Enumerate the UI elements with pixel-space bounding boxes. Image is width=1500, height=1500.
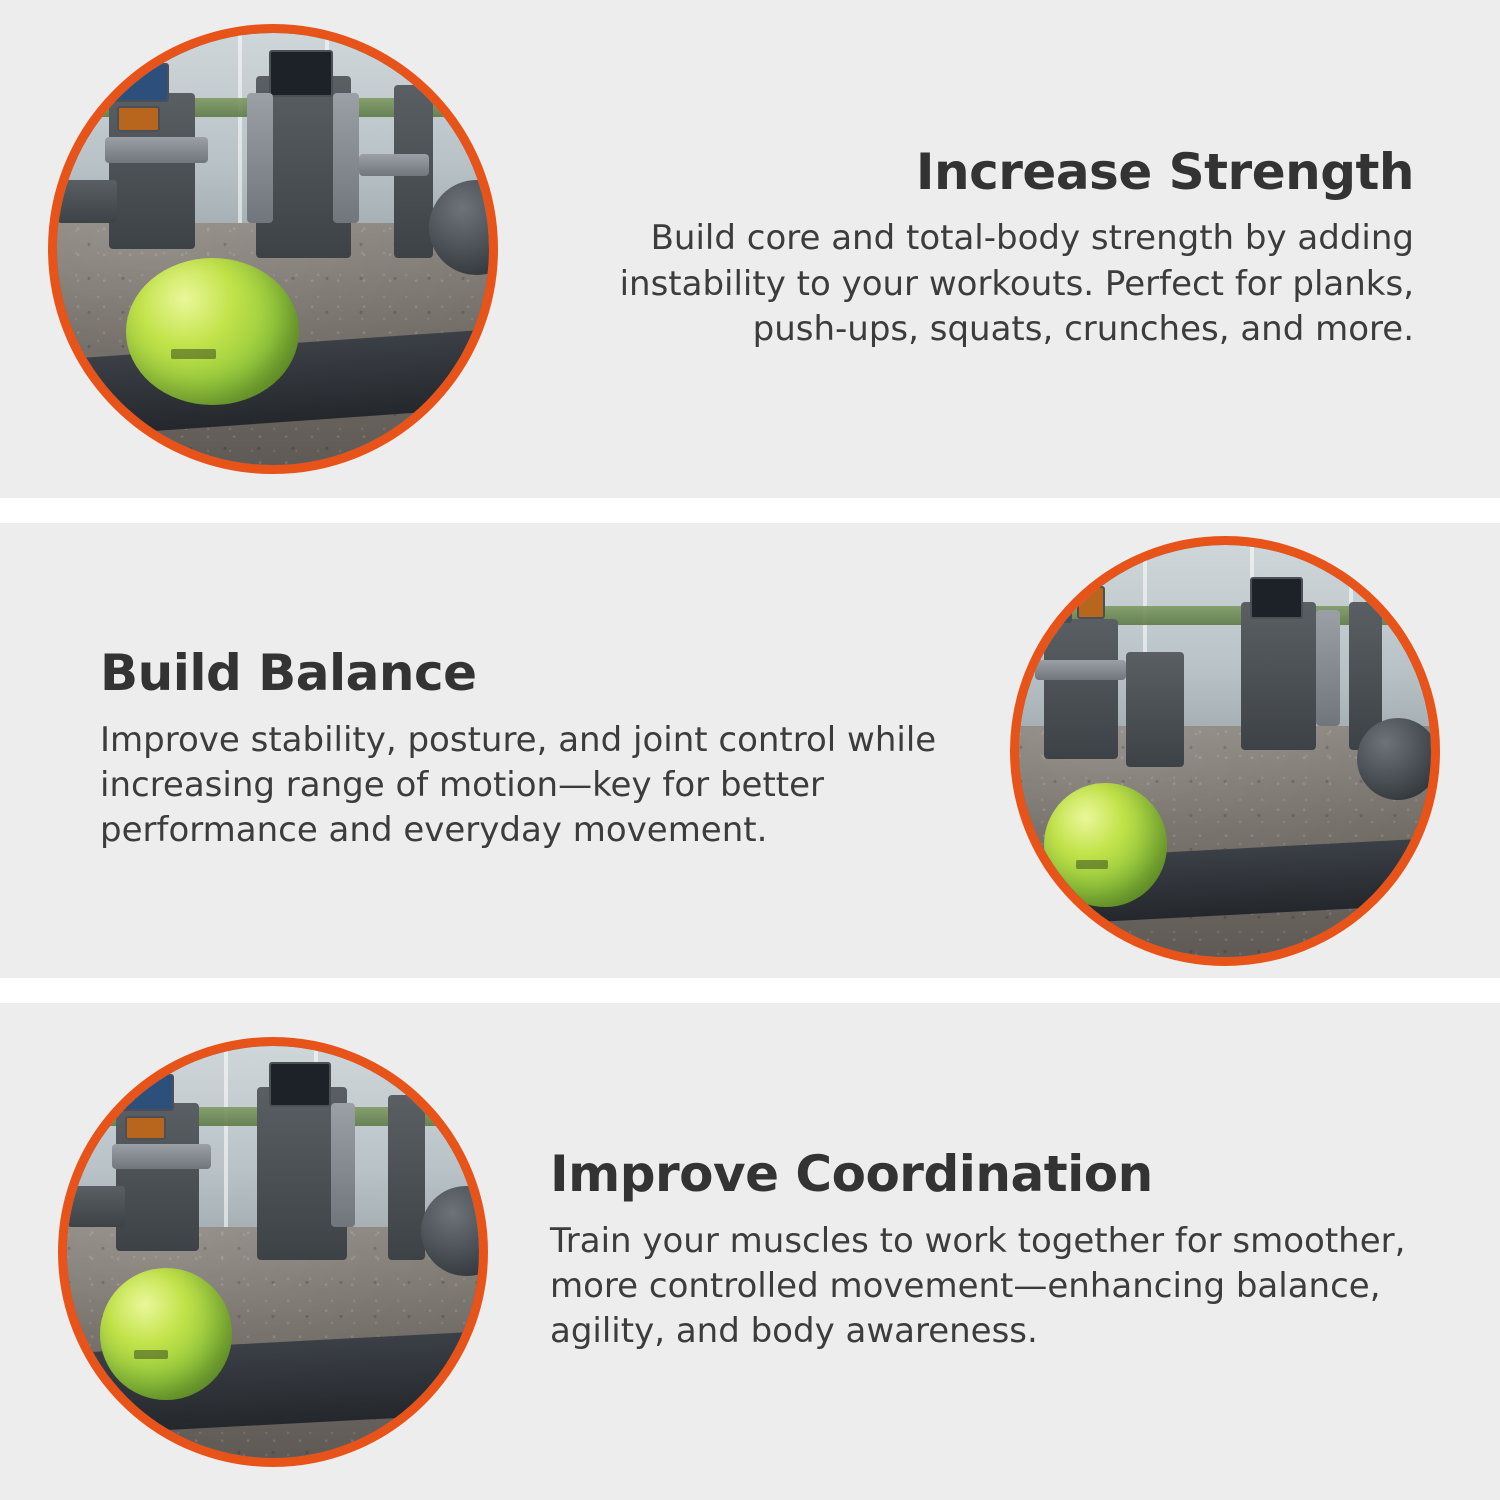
elliptical-arm-3: [1316, 610, 1341, 725]
stability-ball-3: [100, 1268, 232, 1400]
panel-heading: Improve Coordination: [550, 1148, 1410, 1201]
elliptical-display-3: [269, 1062, 331, 1107]
strength-pad-1: [359, 154, 428, 176]
panel-improve-coordination: Improve Coordination Train your muscles …: [0, 1003, 1500, 1500]
elliptical-arm-2: [333, 93, 359, 223]
benefits-infographic: Increase Strength Build core and total-b…: [0, 0, 1500, 1500]
elliptical-arm-4: [331, 1103, 356, 1227]
elliptical-arm-1: [247, 93, 273, 223]
panel-increase-strength: Increase Strength Build core and total-b…: [0, 0, 1500, 498]
stability-ball-1: [126, 258, 299, 405]
panel-body: Improve stability, posture, and joint co…: [100, 718, 970, 854]
photo-improve-coordination: [58, 1037, 488, 1467]
panel-heading: Increase Strength: [560, 146, 1414, 199]
medicine-ball-rack-2: [1357, 718, 1431, 800]
dumbbell-rack-2: [67, 1186, 125, 1227]
panel-build-balance: Build Balance Improve stability, posture…: [0, 523, 1500, 978]
treadmill-display-amber-3: [125, 1116, 166, 1141]
strength-frame-3: [388, 1095, 425, 1260]
panel-heading: Build Balance: [100, 647, 970, 700]
text-increase-strength: Increase Strength Build core and total-b…: [498, 146, 1500, 352]
bike-1: [1126, 652, 1184, 767]
gym-scene-1: [57, 33, 489, 465]
treadmill-rail-2: [1035, 660, 1126, 681]
text-improve-coordination: Improve Coordination Train your muscles …: [488, 1148, 1500, 1354]
treadmill-display-amber-2: [1077, 586, 1106, 619]
treadmill-rail-3: [112, 1144, 211, 1169]
divider-1: [0, 498, 1500, 523]
gym-scene-3: [67, 1046, 479, 1458]
panel-body: Train your muscles to work together for …: [550, 1219, 1410, 1355]
text-build-balance: Build Balance Improve stability, posture…: [0, 647, 1010, 853]
treadmill-display-3: [121, 1074, 174, 1111]
treadmill-display-1: [113, 63, 169, 102]
gym-scene-2: [1019, 545, 1431, 957]
treadmill-display-2: [1027, 586, 1072, 623]
photo-increase-strength: [48, 24, 498, 474]
elliptical-display-1: [269, 50, 333, 97]
divider-2: [0, 978, 1500, 1003]
elliptical-2: [1241, 602, 1315, 750]
treadmill-display-amber: [117, 106, 160, 132]
treadmill-rail-1: [105, 137, 209, 163]
photo-build-balance: [1010, 536, 1440, 966]
panel-body: Build core and total-body strength by ad…: [560, 216, 1414, 352]
stability-ball-2: [1044, 783, 1168, 907]
elliptical-display-2: [1250, 577, 1303, 618]
treadmill-2: [1044, 619, 1118, 759]
dumbbell-rack-1: [57, 180, 117, 223]
